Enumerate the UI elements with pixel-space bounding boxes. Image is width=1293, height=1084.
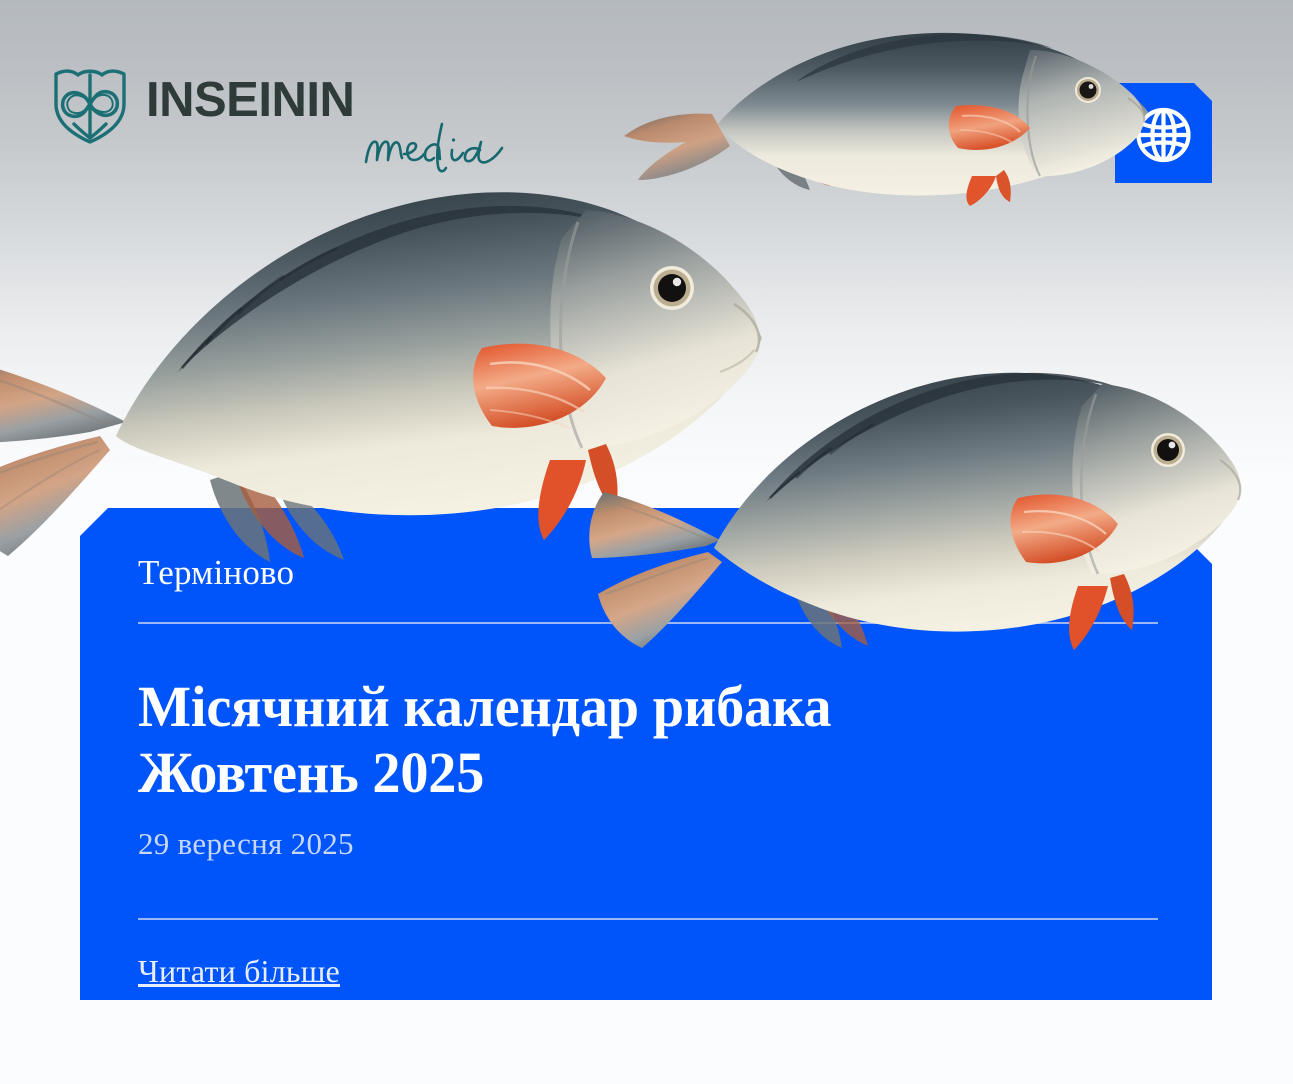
divider-bottom — [138, 918, 1158, 920]
headline-line-2: Жовтень 2025 — [138, 740, 1127, 806]
logo-wordmark: INSEININ — [146, 76, 354, 125]
read-more-link[interactable]: Читати більше — [138, 953, 340, 990]
publish-date: 29 вересня 2025 — [138, 826, 1158, 862]
shield-infinity-icon — [44, 58, 136, 150]
news-card-canvas: Терміново Місячний календар рибака Жовте… — [0, 0, 1293, 1084]
fish-right-illustration — [580, 350, 1260, 660]
brand-logo[interactable]: INSEININ — [44, 52, 474, 156]
page-title: Місячний календар рибака Жовтень 2025 — [138, 674, 1127, 806]
headline-line-1: Місячний календар рибака — [138, 674, 1127, 740]
